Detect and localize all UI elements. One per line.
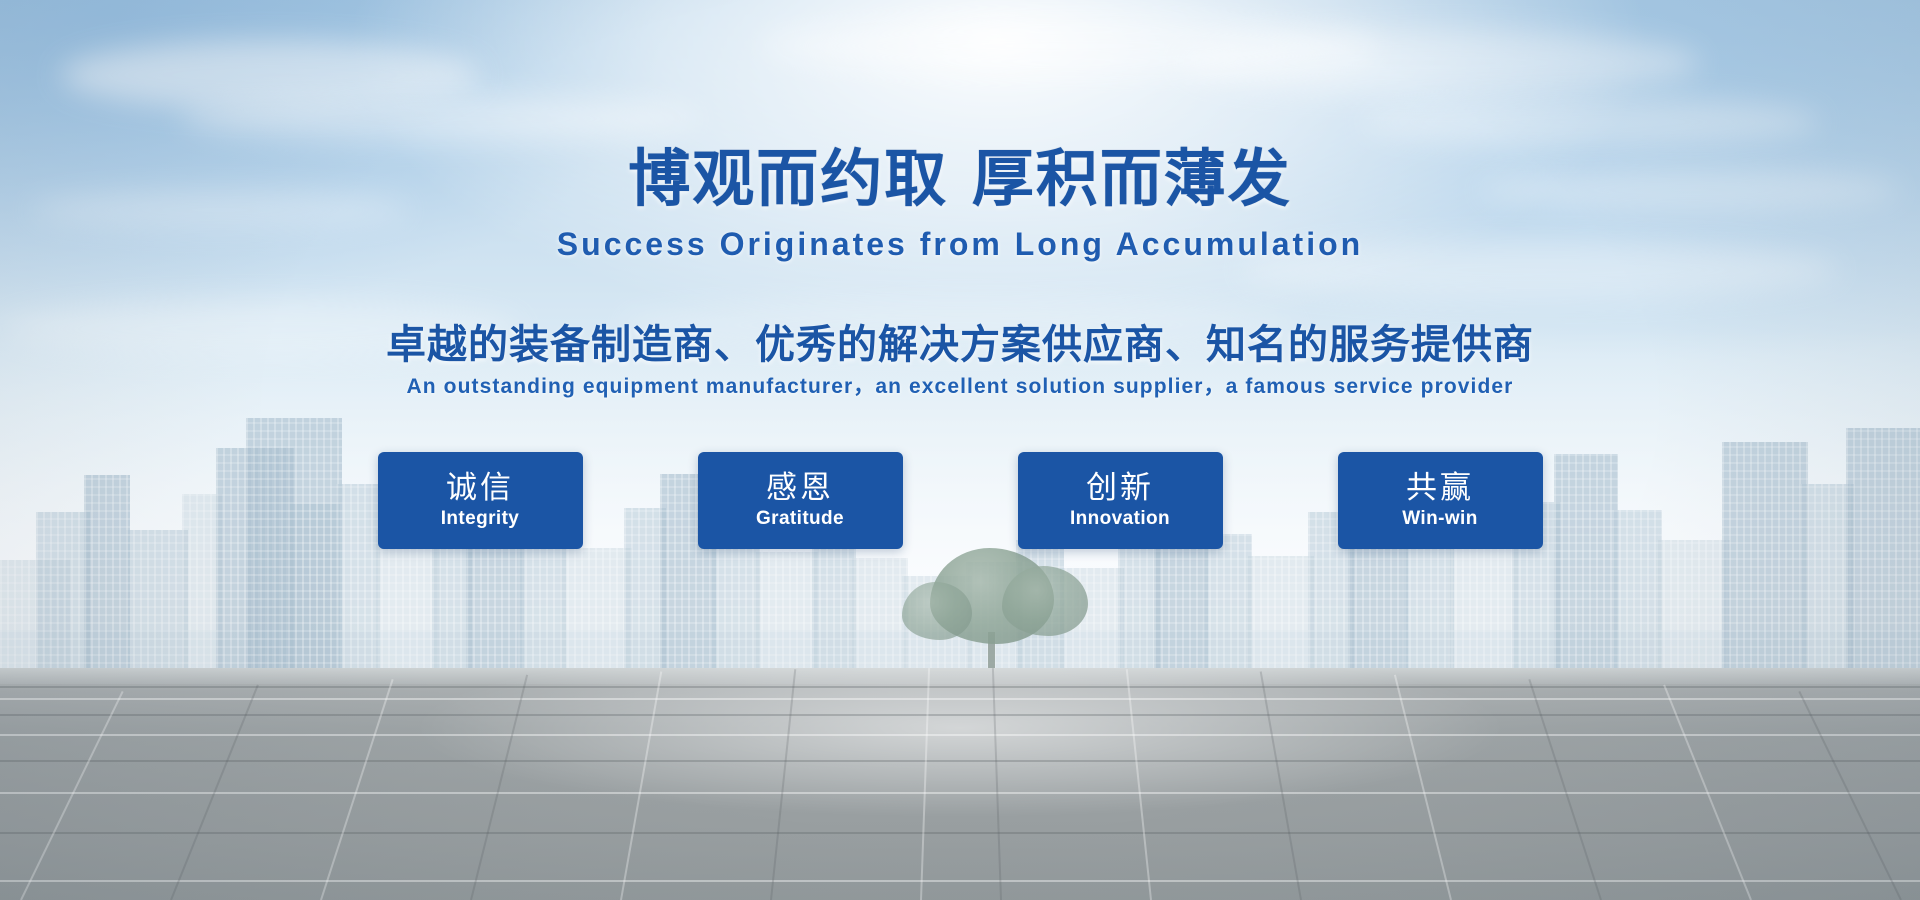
value-card-label-cn: 创新 [1086, 471, 1154, 506]
subtitle-chinese: 卓越的装备制造商、优秀的解决方案供应商、知名的服务提供商 [0, 312, 1920, 370]
value-card-integrity[interactable]: 诚信 Integrity [378, 452, 583, 549]
subtitle-english: An outstanding equipment manufacturer，an… [0, 370, 1920, 400]
value-card-label-cn: 共赢 [1406, 471, 1474, 506]
value-card-label-en: Win-win [1402, 508, 1477, 530]
value-card-label-en: Innovation [1070, 508, 1170, 530]
headline-chinese: 博观而约取 厚积而薄发 [0, 128, 1920, 218]
headline-english: Success Originates from Long Accumulatio… [0, 226, 1920, 263]
core-values-list: 诚信 Integrity 感恩 Gratitude 创新 Innovation … [0, 452, 1920, 549]
value-card-gratitude[interactable]: 感恩 Gratitude [698, 452, 903, 549]
hero-banner: 博观而约取 厚积而薄发 Success Originates from Long… [0, 0, 1920, 900]
value-card-label-cn: 感恩 [766, 471, 834, 506]
value-card-label-en: Gratitude [756, 508, 844, 530]
value-card-winwin[interactable]: 共赢 Win-win [1338, 452, 1543, 549]
banner-content: 博观而约取 厚积而薄发 Success Originates from Long… [0, 0, 1920, 900]
value-card-label-en: Integrity [441, 508, 520, 530]
value-card-innovation[interactable]: 创新 Innovation [1018, 452, 1223, 549]
value-card-label-cn: 诚信 [446, 471, 514, 506]
